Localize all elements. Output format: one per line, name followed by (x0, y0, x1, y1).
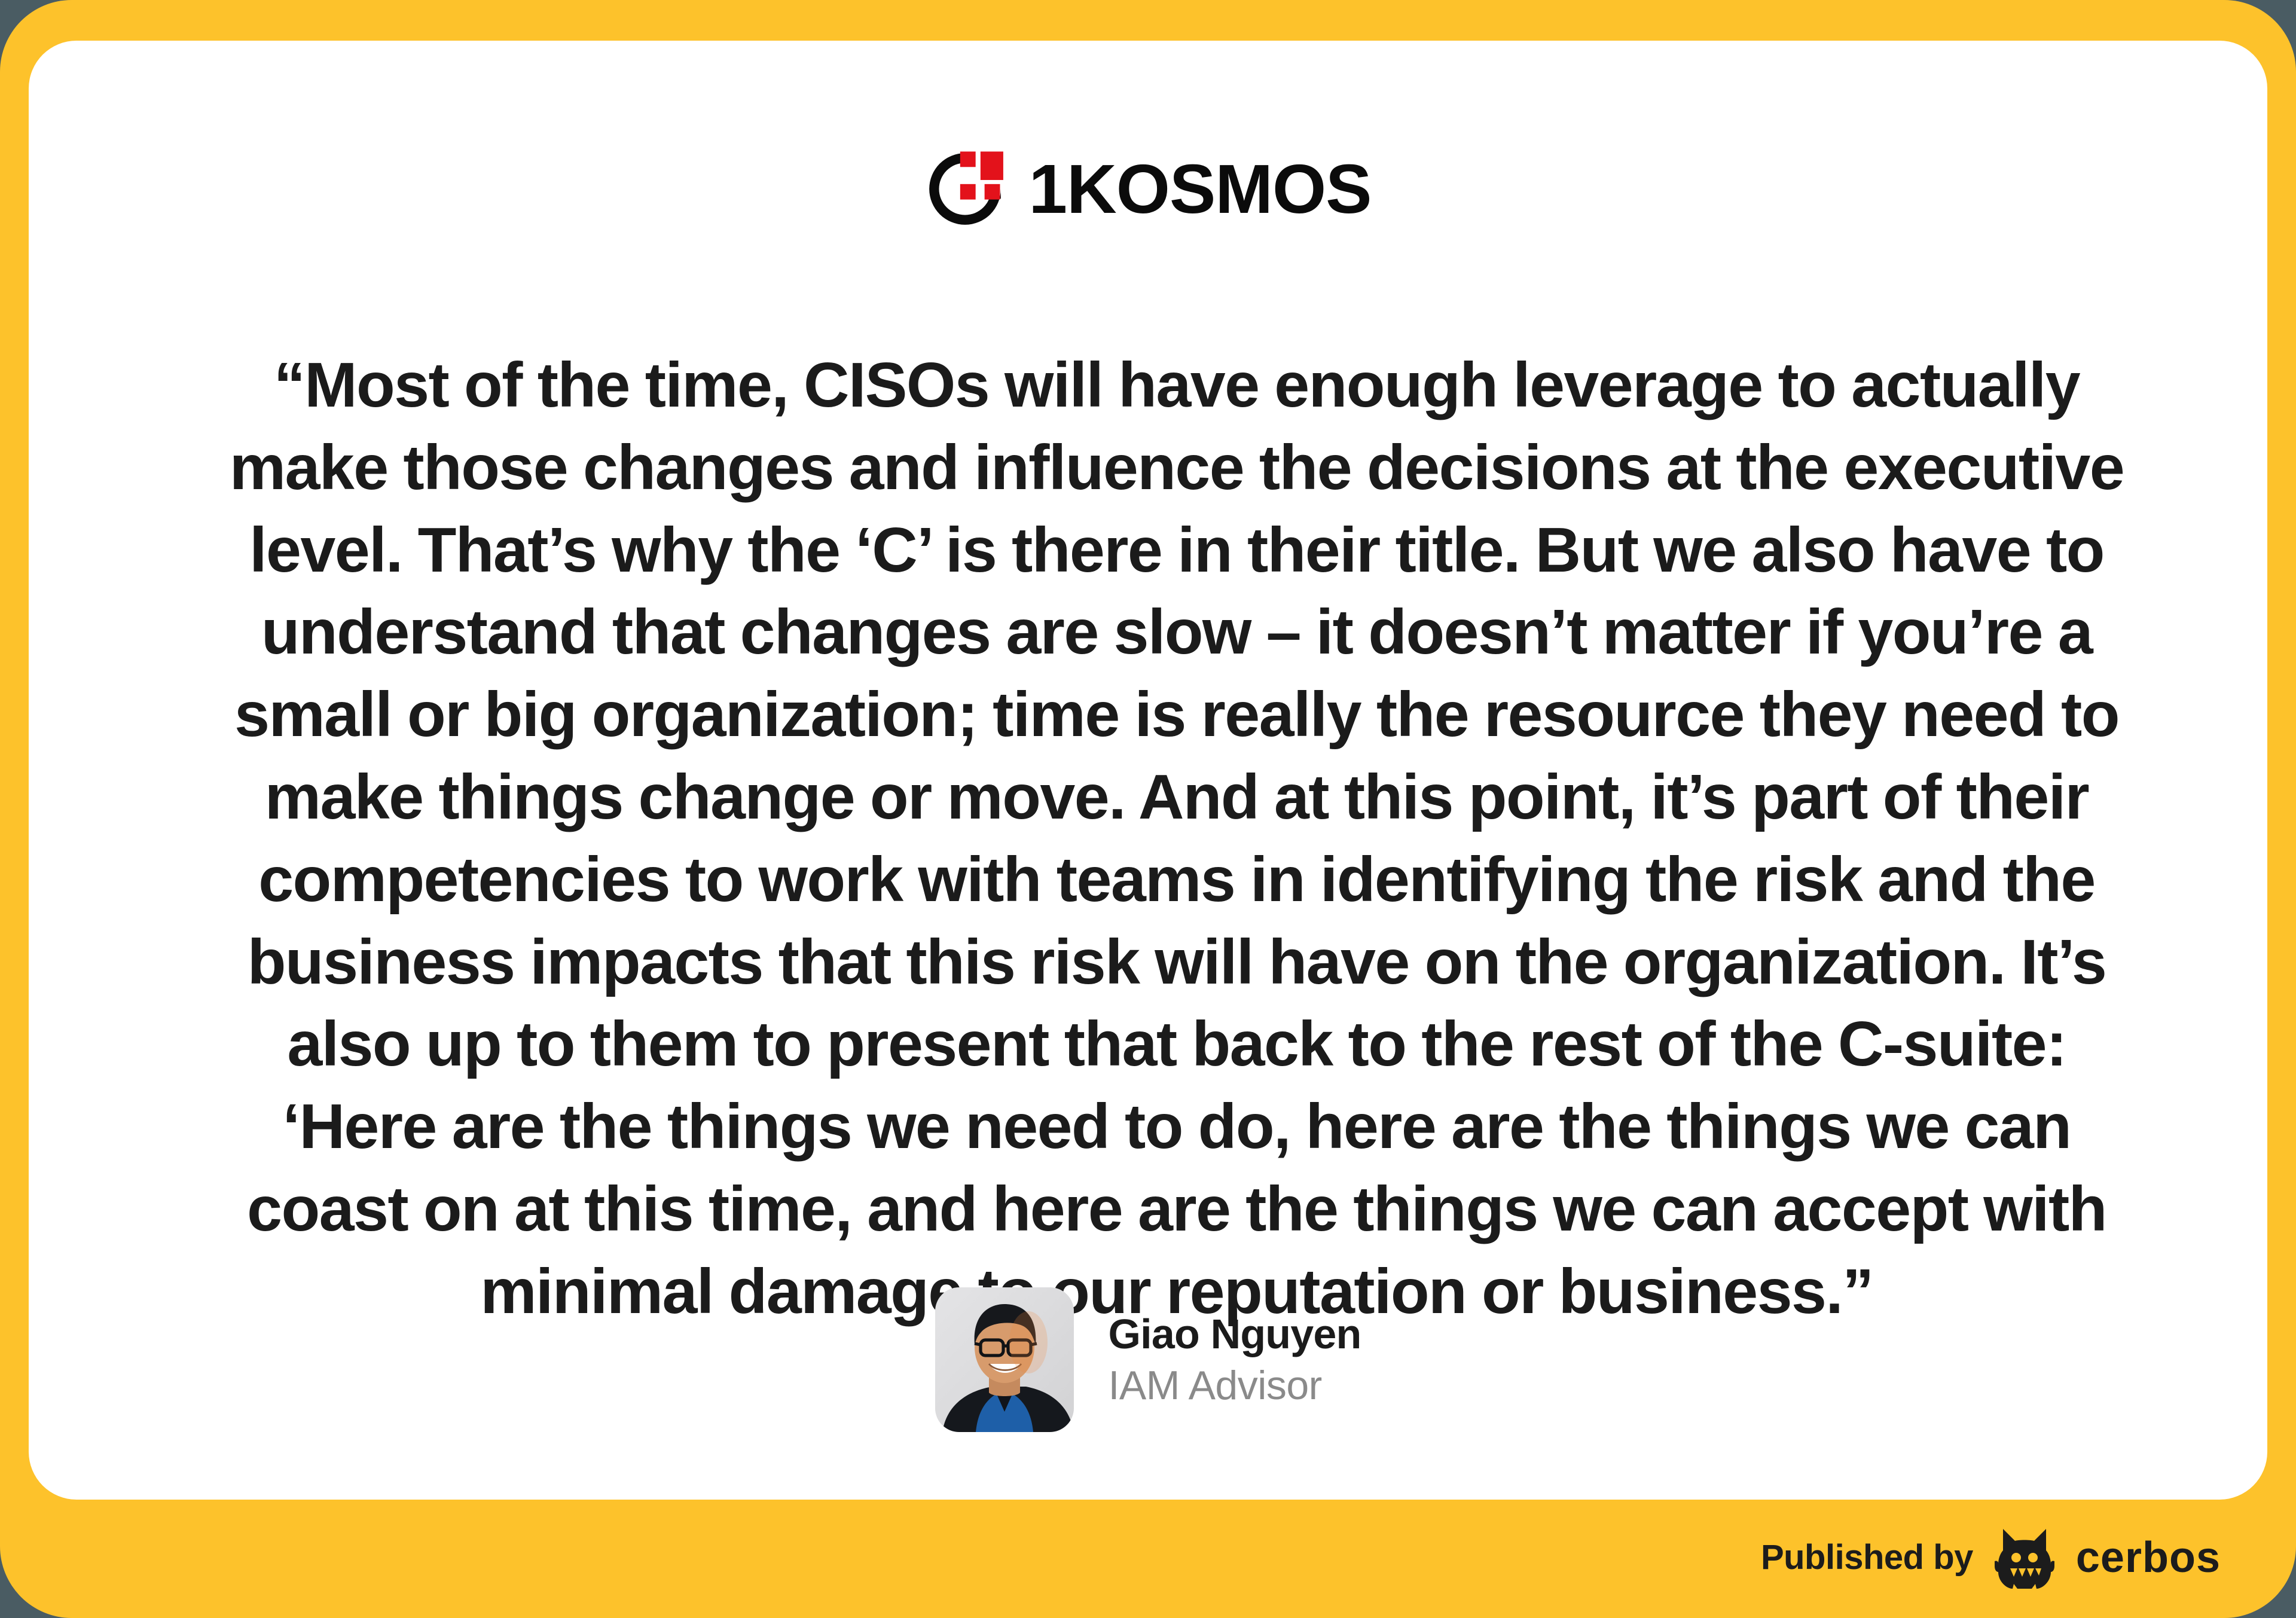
person-headshot-avatar (935, 1287, 1074, 1432)
footer-publisher: Published by cerbos (1761, 1522, 2221, 1593)
brand-wordmark: 1KOSMOS (1028, 154, 1371, 224)
person-meta: Giao Nguyen IAM Advisor (1109, 1312, 1361, 1408)
quote-text: “Most of the time, CISOs will have enoug… (208, 344, 2145, 1333)
cerbos-wordmark: cerbos (2076, 1536, 2221, 1579)
published-by-label: Published by (1761, 1540, 1973, 1575)
person-name: Giao Nguyen (1109, 1312, 1361, 1357)
quote-card-surface: 1KOSMOS “Most of the time, CISOs will ha… (29, 41, 2267, 1500)
quote-block: “Most of the time, CISOs will have enoug… (208, 344, 2145, 1333)
quote-card-canvas: 1KOSMOS “Most of the time, CISOs will ha… (0, 0, 2296, 1618)
brand-logo: 1KOSMOS (29, 148, 2267, 230)
cerbos-cat-mascot-icon (1993, 1524, 2056, 1591)
attribution: Giao Nguyen IAM Advisor (29, 1287, 2267, 1432)
outer-accent-card: 1KOSMOS “Most of the time, CISOs will ha… (0, 0, 2296, 1618)
person-role: IAM Advisor (1109, 1364, 1361, 1407)
1kosmos-circle-squares-icon (924, 148, 1006, 230)
